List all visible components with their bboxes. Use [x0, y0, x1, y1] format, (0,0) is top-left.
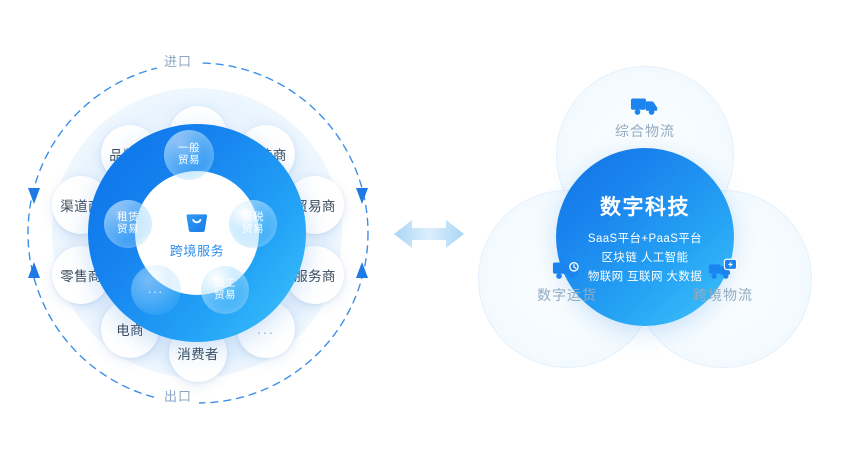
- double-arrow-icon: [394, 216, 464, 252]
- orbit-arrow-left-up-icon: [28, 262, 40, 278]
- venn-label-group-digital-freight: 数字运货: [537, 258, 597, 305]
- bubble-line-1: ...: [148, 283, 164, 296]
- bubble-bonded-trade[interactable]: 报税 贸易: [229, 200, 277, 248]
- orbit-arrow-right-up-icon: [356, 262, 368, 278]
- orbit-label-export: 出口: [157, 385, 199, 406]
- digital-logistics-venn: 数字科技 SaaS平台+PaaS平台 区块链 人工智能 物联网 互联网 大数据 …: [470, 66, 820, 376]
- bubble-leasing-trade[interactable]: 租赁 贸易: [104, 200, 152, 248]
- hub-title: 数字科技: [600, 191, 690, 221]
- venn-label-group-integrated-logistics: 综合物流: [615, 94, 675, 141]
- bubble-line-2: 贸易: [178, 155, 200, 167]
- truck-icon: [630, 94, 660, 118]
- service-donut: 一般 贸易 报税 贸易 加工 贸易 ... 租赁 贸易: [88, 124, 306, 342]
- diagram-canvas: 进口 出口 供应商 制造商 贸易商 服务商 ... 消费者 电商 零售商 渠道商: [0, 0, 850, 460]
- orbit-arrow-left-down-icon: [28, 188, 40, 204]
- bubble-more[interactable]: ...: [131, 265, 181, 315]
- venn-label-group-cross-border-logistics: 跨境物流: [693, 258, 753, 305]
- cross-border-service-wheel: 进口 出口 供应商 制造商 贸易商 服务商 ... 消费者 电商 零售商 渠道商: [18, 38, 378, 422]
- hub-line: SaaS平台+PaaS平台: [588, 230, 702, 246]
- node-label: 服务商: [294, 265, 335, 285]
- bubble-line-2: 贸易: [117, 224, 139, 236]
- orbit-label-import: 进口: [157, 50, 199, 71]
- truck-bolt-icon: [708, 258, 738, 282]
- node-label: 消费者: [177, 343, 218, 363]
- shopping-bag-icon: [182, 207, 212, 237]
- wheel-center-caption: 跨境服务: [170, 241, 224, 260]
- bubble-processing-trade[interactable]: 加工 贸易: [201, 266, 249, 314]
- hub-line: 区块链 人工智能: [602, 249, 689, 265]
- bubble-line-2: 贸易: [242, 224, 264, 236]
- venn-lobe-label: 综合物流: [615, 121, 675, 141]
- bubble-line-2: 贸易: [214, 290, 236, 302]
- venn-lobe-label: 数字运货: [537, 285, 597, 305]
- venn-lobe-label: 跨境物流: [693, 285, 753, 305]
- orbit-arrow-right-down-icon: [356, 188, 368, 204]
- bubble-general-trade[interactable]: 一般 贸易: [164, 130, 214, 180]
- wheel-center-core: 跨境服务: [170, 207, 224, 260]
- hub-line: 物联网 互联网 大数据: [588, 268, 702, 284]
- truck-clock-icon: [552, 258, 582, 282]
- hub-line-list: SaaS平台+PaaS平台 区块链 人工智能 物联网 互联网 大数据: [588, 230, 702, 284]
- node-label: ...: [257, 321, 275, 337]
- bidirectional-connector: [394, 216, 464, 252]
